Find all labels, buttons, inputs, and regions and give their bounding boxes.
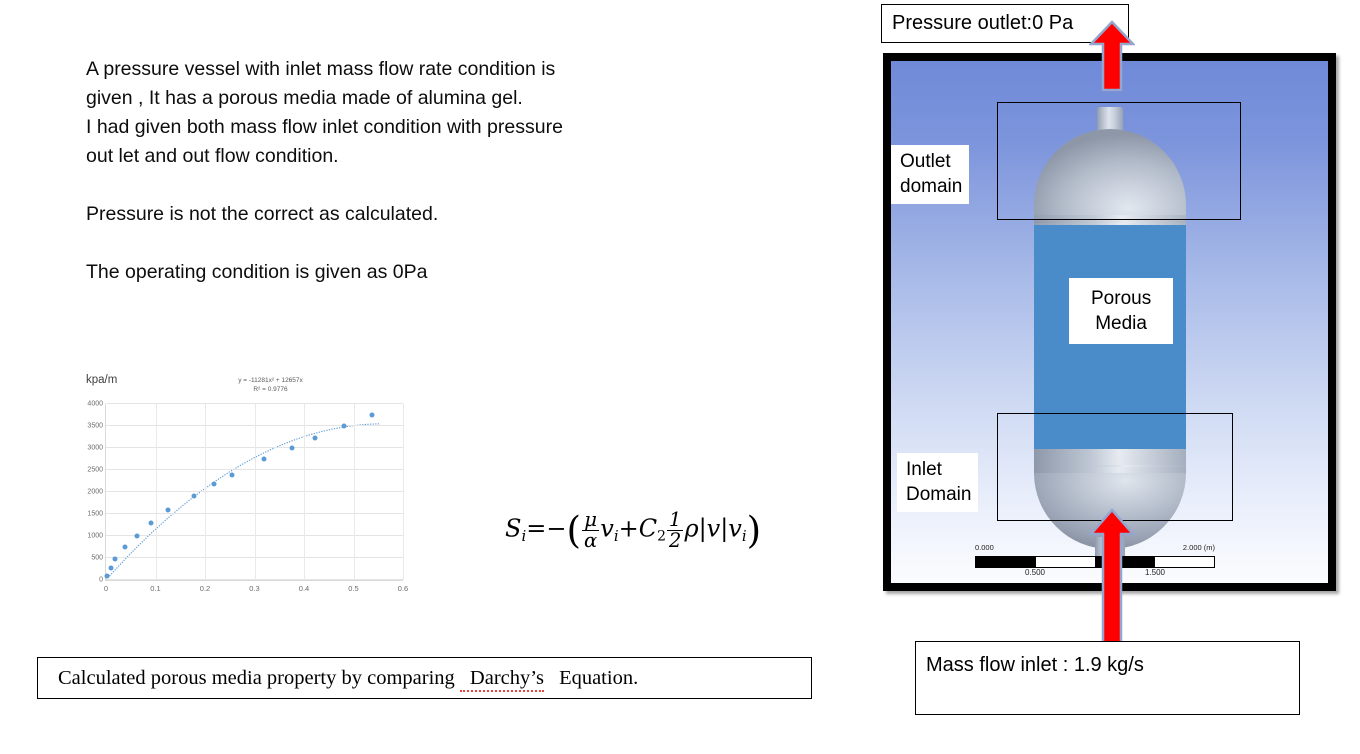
chart-gridline-vertical xyxy=(354,404,355,580)
notes-line-3: I had given both mass flow inlet conditi… xyxy=(86,113,696,142)
outlet-domain-box xyxy=(997,102,1241,220)
caption-box: Calculated porous media property by comp… xyxy=(37,657,812,699)
scale-bar-segment-2 xyxy=(1036,557,1096,567)
chart-gridline-vertical xyxy=(156,404,157,580)
chart-data-point xyxy=(369,413,374,418)
darcy-forchheimer-equation: Si=−(μαvi+C212ρ|v|vi) xyxy=(505,508,761,552)
porous-media-label-line1: Porous xyxy=(1091,286,1151,311)
chart-data-point xyxy=(148,520,153,525)
caption-text: Calculated porous media property by comp… xyxy=(38,667,638,690)
formula-equals: =− xyxy=(526,515,566,543)
chart-x-tick-label: 0.6 xyxy=(398,584,408,593)
scale-bar-segment-1 xyxy=(976,557,1036,567)
chart-y-tick-label: 2500 xyxy=(87,467,103,474)
inlet-flow-arrow-icon xyxy=(1089,508,1135,648)
notes-line-6: The operating condition is given as 0Pa xyxy=(86,258,696,287)
formula-v1: v xyxy=(600,515,614,543)
chart-data-point xyxy=(134,533,139,538)
formula-lhs: S xyxy=(505,515,521,543)
chart-data-point xyxy=(192,493,197,498)
chart-x-tick-label: 0.2 xyxy=(200,584,210,593)
chart-data-point xyxy=(105,574,110,579)
pressure-outlet-label: Pressure outlet:0 Pa xyxy=(882,12,1081,35)
notes-line-4: out let and out flow condition. xyxy=(86,142,696,171)
chart-gridline-vertical xyxy=(304,404,305,580)
caption-text-before: Calculated porous media property by comp… xyxy=(48,667,460,689)
mass-flow-inlet-callout: Mass flow inlet : 1.9 kg/s xyxy=(915,641,1300,715)
notes-line-2: given , It has a porous media made of al… xyxy=(86,84,696,113)
mass-flow-inlet-label: Mass flow inlet : 1.9 kg/s xyxy=(916,642,1152,677)
notes-line-5: Pressure is not the correct as calculate… xyxy=(86,200,696,229)
outlet-flow-arrow-icon xyxy=(1089,20,1135,92)
chart-data-point xyxy=(166,508,171,513)
outlet-domain-label: Outlet domain xyxy=(891,145,969,204)
chart-data-point xyxy=(230,473,235,478)
notes-spacer-1 xyxy=(86,171,696,200)
formula-mu: μ xyxy=(582,510,599,531)
chart-data-point xyxy=(313,435,318,440)
formula-c: C xyxy=(639,515,657,543)
chart-data-point xyxy=(112,556,117,561)
chart-gridline-vertical xyxy=(205,404,206,580)
formula-close-paren: ) xyxy=(747,508,762,552)
chart-y-tick-label: 4000 xyxy=(87,401,103,408)
inlet-domain-label-line1: Inlet xyxy=(906,457,971,482)
chart-y-tick-label: 3000 xyxy=(87,445,103,452)
formula-mu-over-alpha: μα xyxy=(582,510,599,551)
formula-c-sub: 2 xyxy=(657,529,666,545)
scale-bar-mid-label-2: 1.500 xyxy=(1145,568,1165,577)
chart-data-point xyxy=(123,545,128,550)
formula-plus: + xyxy=(619,515,639,543)
outlet-domain-label-line2: domain xyxy=(900,174,962,199)
formula-abs-v: |v| xyxy=(699,515,729,543)
chart-y-tick-label: 1000 xyxy=(87,533,103,540)
chart-x-tick-label: 0.1 xyxy=(150,584,160,593)
notes-line-1: A pressure vessel with inlet mass flow r… xyxy=(86,55,696,84)
caption-misspelled-word: Darchy’s xyxy=(460,667,544,692)
chart-data-point xyxy=(289,446,294,451)
outlet-domain-label-line1: Outlet xyxy=(900,149,962,174)
chart-y-axis-title: kpa/m xyxy=(86,374,117,386)
pressure-gradient-scatter-chart: kpa/m y = -11281x² + 12657x R² = 0.9776 … xyxy=(78,372,413,607)
chart-plot-area: 0500100015002000250030003500400000.10.20… xyxy=(105,404,403,581)
formula-one: 1 xyxy=(667,510,684,531)
formula-rho: ρ xyxy=(684,515,698,543)
chart-data-point xyxy=(212,482,217,487)
chart-data-point xyxy=(342,424,347,429)
inlet-domain-label: Inlet Domain xyxy=(897,453,978,512)
caption-text-after: Equation. xyxy=(544,667,638,689)
chart-data-point xyxy=(262,457,267,462)
formula-v2: v xyxy=(728,515,742,543)
chart-data-point xyxy=(108,566,113,571)
trendline-equation: y = -11281x² + 12657x xyxy=(198,376,343,385)
vessel-ring-upper xyxy=(1034,221,1186,223)
porous-media-label-line2: Media xyxy=(1091,311,1151,336)
chart-y-tick-label: 1500 xyxy=(87,511,103,518)
formula-two: 2 xyxy=(667,531,684,551)
notes-spacer-2 xyxy=(86,229,696,258)
chart-y-tick-label: 3500 xyxy=(87,423,103,430)
notes-text-block: A pressure vessel with inlet mass flow r… xyxy=(86,55,696,287)
chart-x-tick-label: 0.3 xyxy=(249,584,259,593)
chart-gridline-vertical xyxy=(255,404,256,580)
scale-bar-segment-4 xyxy=(1155,557,1215,567)
chart-trendline-annotation: y = -11281x² + 12657x R² = 0.9776 xyxy=(198,376,343,394)
chart-y-tick-label: 2000 xyxy=(87,489,103,496)
chart-x-tick-label: 0.4 xyxy=(299,584,309,593)
scale-bar-start-label: 0.000 xyxy=(975,543,994,552)
chart-y-tick-label: 500 xyxy=(91,555,103,562)
inlet-domain-box xyxy=(997,413,1233,521)
formula-alpha: α xyxy=(582,531,599,551)
trendline-r2: R² = 0.9776 xyxy=(198,385,343,394)
scale-bar-mid-label-1: 0.500 xyxy=(1025,568,1045,577)
chart-x-tick-label: 0 xyxy=(104,584,108,593)
chart-gridline-vertical xyxy=(403,404,404,580)
formula-one-half: 12 xyxy=(667,510,684,551)
chart-y-tick-label: 0 xyxy=(99,577,103,584)
inlet-domain-label-line2: Domain xyxy=(906,482,971,507)
chart-x-tick-label: 0.5 xyxy=(348,584,358,593)
scale-bar-end-label: 2.000 (m) xyxy=(1183,543,1215,552)
porous-media-label: Porous Media xyxy=(1069,278,1173,344)
formula-open-paren: ( xyxy=(566,508,581,552)
